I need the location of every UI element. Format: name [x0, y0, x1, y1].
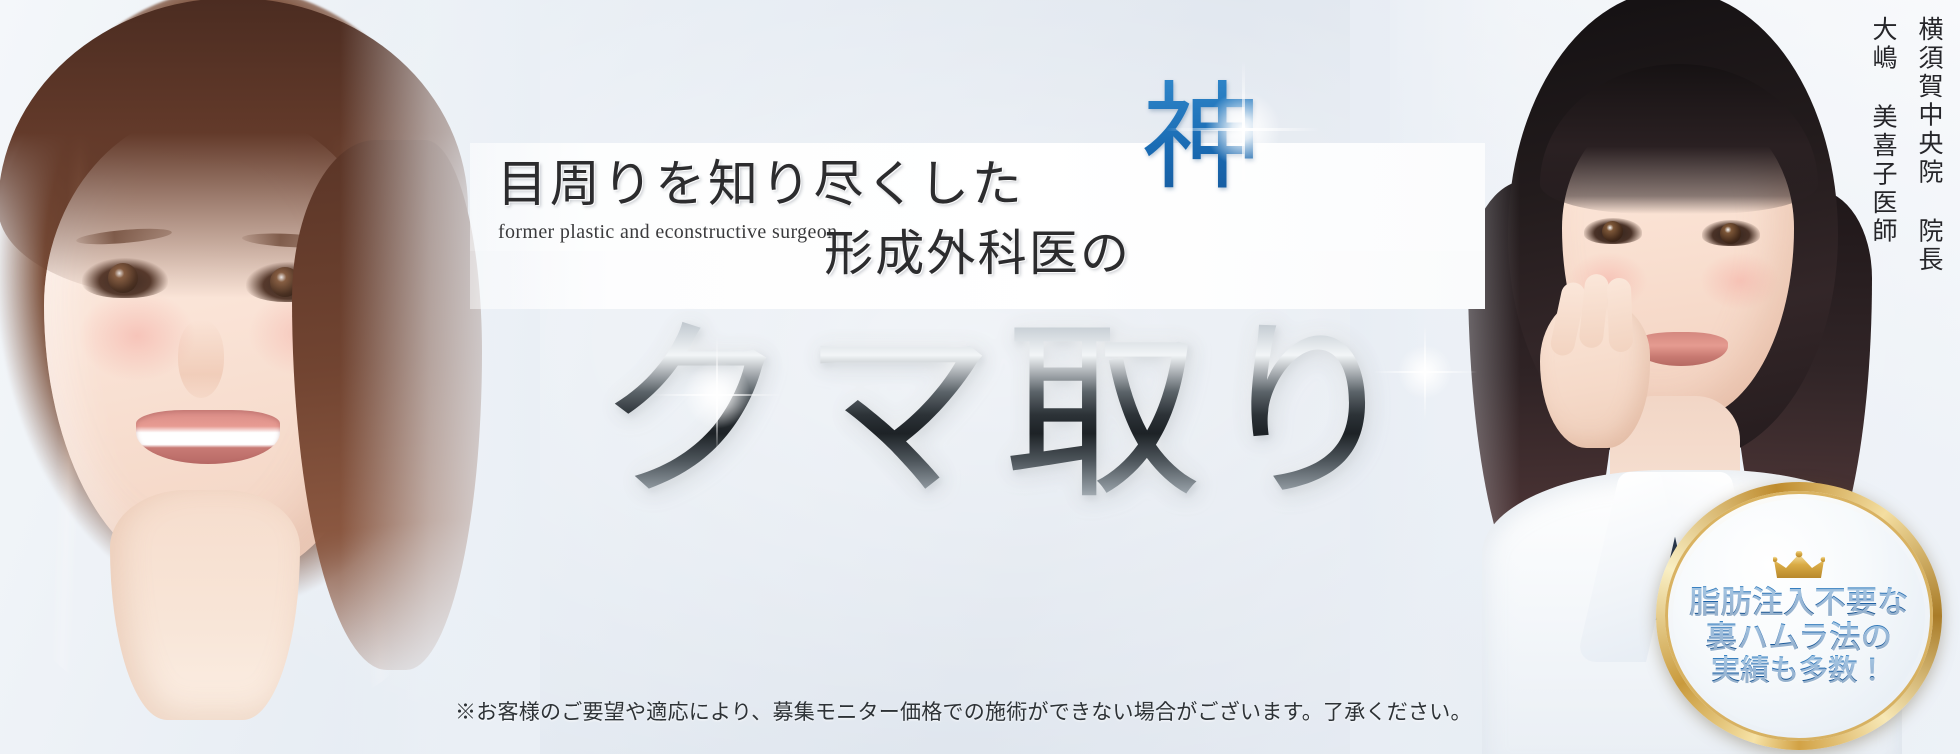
model-photo-left: [0, 0, 520, 754]
model-left-edge-fade: [340, 0, 540, 754]
badge-line-1: 脂肪注入不要な: [1689, 585, 1908, 620]
headline-accent-kanji: 神技: [1142, 80, 1411, 198]
clinic-promo-banner: 目周りを知り尽くした former plastic and econstruct…: [0, 0, 1960, 754]
badge-line-3: 実績も多数！: [1711, 655, 1887, 688]
headline-line-1: 目周りを知り尽くした: [497, 144, 1025, 216]
badge-line-2: 裏ハムラ法の: [1706, 620, 1892, 655]
headline-english-caption: former plastic and econstructive surgeon: [498, 221, 837, 244]
main-title-block: クマ取り: [565, 300, 1445, 530]
doctor-clinic-role: 横須賀中央院 院長: [1910, 16, 1946, 266]
doctor-cheek-right: [1700, 252, 1780, 310]
disclaimer-text: ※お客様のご要望や適応により、募集モニター価格での施術ができない場合がございます…: [455, 696, 1472, 726]
model-nose: [178, 320, 224, 398]
main-title-text: クマ取り: [565, 300, 1445, 530]
doctor-iris-left: [1602, 221, 1623, 242]
headline-line-2: 形成外科医の: [824, 214, 1131, 285]
doctor-name-vertical: 横須賀中央院 院長 大嶋 美喜子医師: [1864, 16, 1946, 266]
headline-block: 目周りを知り尽くした former plastic and econstruct…: [497, 120, 1497, 315]
crown-icon: [1773, 551, 1825, 581]
model-neck: [110, 490, 300, 720]
doctor-name: 大嶋 美喜子医師: [1864, 16, 1900, 266]
badge-content: 脂肪注入不要な 裏ハムラ法の 実績も多数！: [1673, 499, 1925, 733]
doctor-finger-3: [1607, 278, 1634, 353]
achievement-badge: 脂肪注入不要な 裏ハムラ法の 実績も多数！: [1656, 482, 1942, 750]
doctor-iris-right: [1720, 223, 1741, 244]
